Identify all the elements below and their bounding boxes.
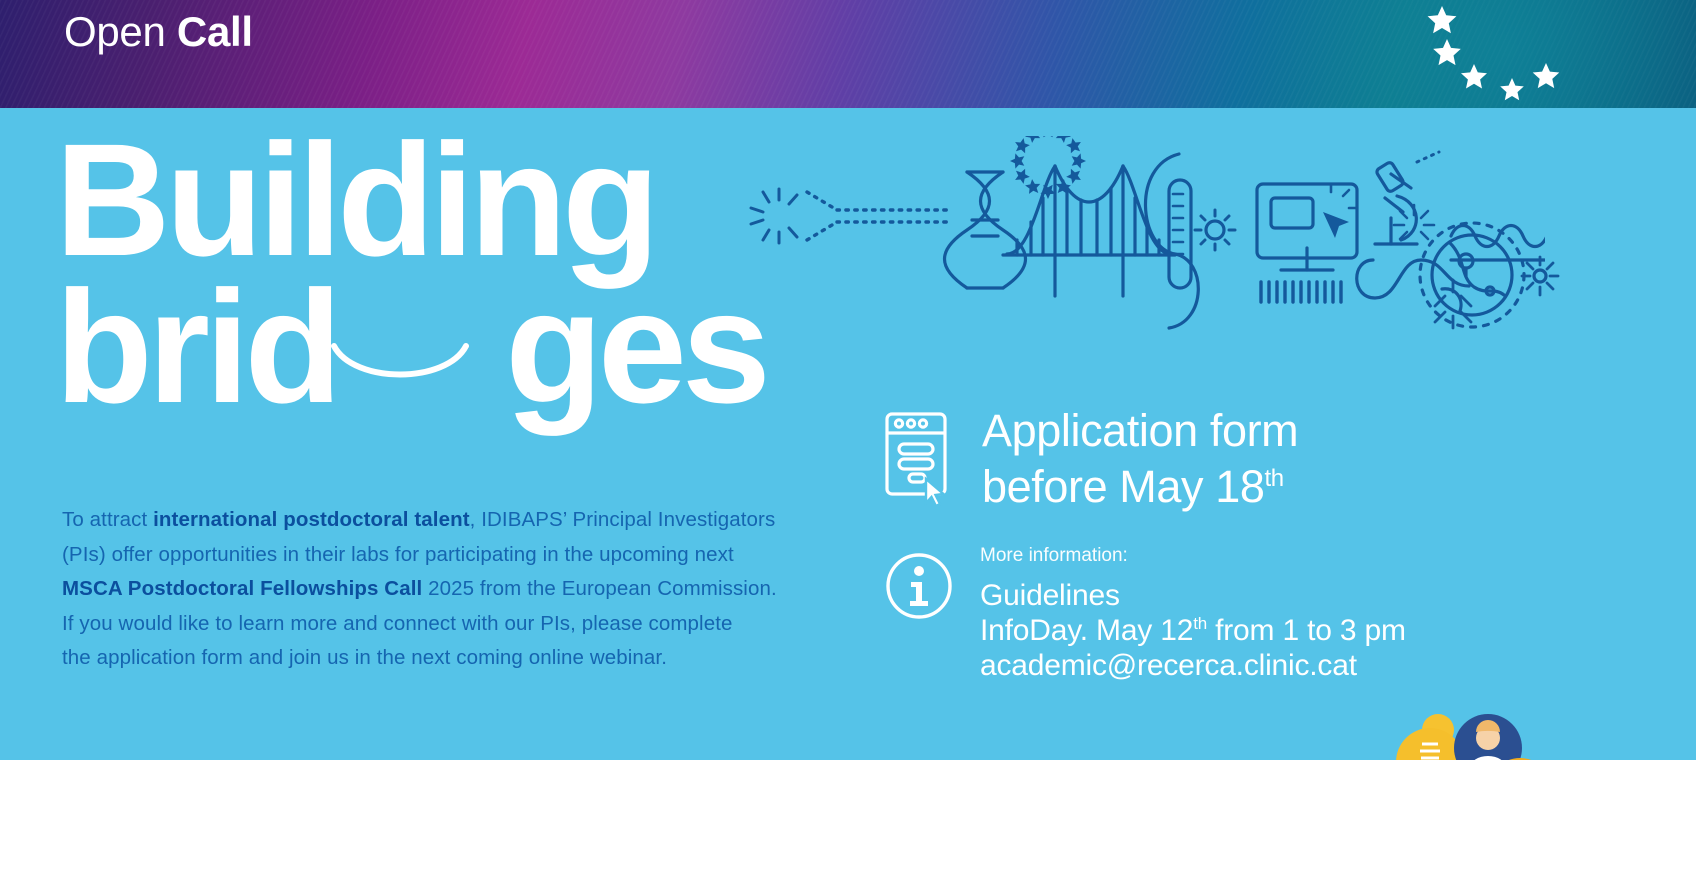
poster-footer: Organizers: Acknowledgements: I D I BAPS…	[0, 760, 1696, 880]
hero-line-2-b: ges	[505, 257, 766, 436]
eu-stars-arc-icon	[0, 0, 1696, 110]
body-copy-line-2: (PIs) offer opportunities in their labs …	[62, 538, 822, 573]
application-form-block[interactable]: Application form before May 18th	[884, 403, 1444, 515]
body-copy-l1-bold: international postdoctoral talent	[153, 508, 470, 531]
body-copy: To attract international postdoctoral ta…	[62, 503, 822, 676]
guidelines-link[interactable]: Guidelines	[980, 578, 1406, 613]
application-form-line-1: Application form	[982, 403, 1298, 459]
application-deadline-suffix: th	[1264, 465, 1283, 492]
infoday-date: InfoDay. May 12	[980, 614, 1193, 647]
more-information-lines: Guidelines InfoDay. May 12th from 1 to 3…	[980, 578, 1406, 683]
body-copy-line-4: If you would like to learn more and conn…	[62, 607, 822, 642]
infoday-date-suffix: th	[1193, 614, 1207, 633]
infoday-time: from 1 to 3 pm	[1207, 614, 1406, 647]
smile-arc-icon	[330, 340, 470, 386]
body-copy-line-3: MSCA Postdoctoral Fellowships Call 2025 …	[62, 572, 822, 607]
contact-email[interactable]: academic@recerca.clinic.cat	[980, 648, 1406, 683]
more-information-text: More information: Guidelines InfoDay. Ma…	[980, 543, 1406, 683]
more-information-block: More information: Guidelines InfoDay. Ma…	[884, 543, 1524, 683]
body-copy-line-1: To attract international postdoctoral ta…	[62, 503, 822, 538]
application-form-text: Application form before May 18th	[982, 403, 1298, 515]
body-copy-l3-bold: MSCA Postdoctoral Fellowships Call	[62, 577, 422, 600]
hero-line-2-a: brid	[55, 257, 337, 436]
application-deadline: before May 18	[982, 461, 1264, 512]
infoday-line: InfoDay. May 12th from 1 to 3 pm	[980, 613, 1406, 648]
body-copy-l1a: To attract	[62, 508, 153, 531]
body-copy-l1b: , IDIBAPS’ Principal Investigators	[470, 508, 776, 531]
info-circle-icon	[884, 551, 954, 621]
application-form-line-2: before May 18th	[982, 459, 1298, 515]
body-copy-l3b: 2025 from the European Commission.	[422, 577, 776, 600]
poster-body: Building brid__ges	[0, 108, 1696, 760]
application-form-icon	[884, 411, 954, 506]
body-copy-line-5: the application form and join us in the …	[62, 641, 822, 676]
poster-header: Open Call	[0, 0, 1696, 110]
open-call-poster: Open Call Building brid__ges	[0, 0, 1696, 880]
globe-network-icon	[1390, 203, 1570, 343]
more-information-label: More information:	[980, 543, 1406, 569]
